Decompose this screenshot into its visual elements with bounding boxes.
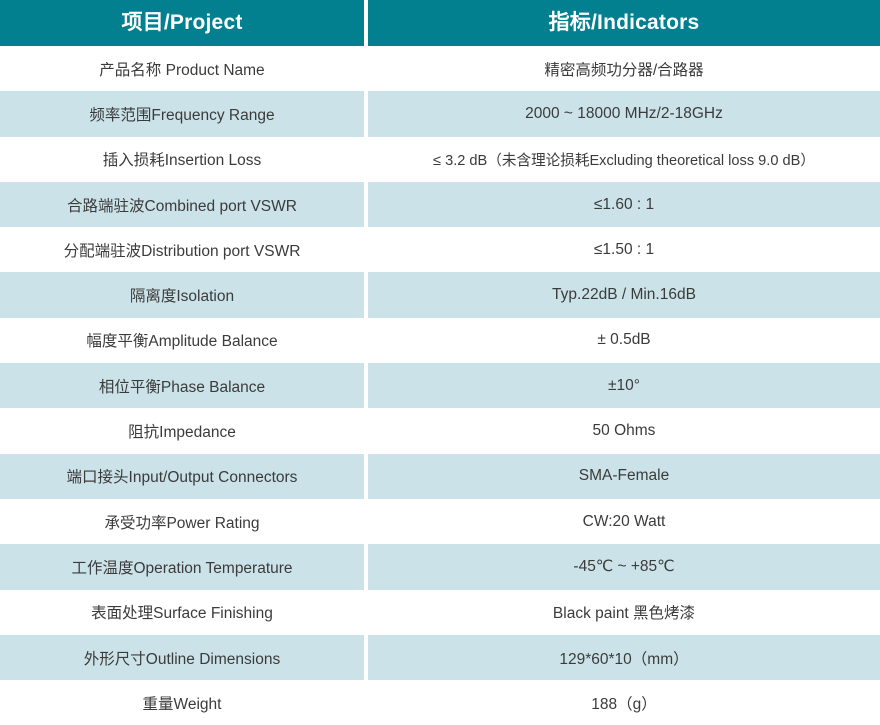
row-label: 插入损耗Insertion Loss <box>0 137 364 182</box>
row-label: 分配端驻波Distribution port VSWR <box>0 227 364 272</box>
table-header: 项目/Project 指标/Indicators <box>0 0 880 46</box>
row-label: 工作温度Operation Temperature <box>0 544 364 589</box>
row-label: 承受功率Power Rating <box>0 499 364 544</box>
table-row: 工作温度Operation Temperature-45℃ ~ +85℃ <box>0 544 880 589</box>
table-row: 分配端驻波Distribution port VSWR≤1.50 : 1 <box>0 227 880 272</box>
row-value: 2000 ~ 18000 MHz/2-18GHz <box>368 91 880 136</box>
row-value: 188（g） <box>368 680 880 725</box>
row-label: 相位平衡Phase Balance <box>0 363 364 408</box>
row-label: 端口接头Input/Output Connectors <box>0 454 364 499</box>
row-label: 合路端驻波Combined port VSWR <box>0 182 364 227</box>
table-row: 相位平衡Phase Balance±10° <box>0 363 880 408</box>
row-value: ≤ 3.2 dB（未含理论损耗Excluding theoretical los… <box>368 137 880 182</box>
row-label: 幅度平衡Amplitude Balance <box>0 318 364 363</box>
header-row: 项目/Project 指标/Indicators <box>0 0 880 46</box>
row-label: 外形尺寸Outline Dimensions <box>0 635 364 680</box>
row-label: 产品名称 Product Name <box>0 46 364 91</box>
header-indicators: 指标/Indicators <box>368 0 880 46</box>
row-value: Typ.22dB / Min.16dB <box>368 272 880 317</box>
row-value: ≤1.60 : 1 <box>368 182 880 227</box>
row-value: ±10° <box>368 363 880 408</box>
table-row: 频率范围Frequency Range2000 ~ 18000 MHz/2-18… <box>0 91 880 136</box>
header-project: 项目/Project <box>0 0 364 46</box>
table-row: 幅度平衡Amplitude Balance± 0.5dB <box>0 318 880 363</box>
row-label: 表面处理Surface Finishing <box>0 590 364 635</box>
row-label: 重量Weight <box>0 680 364 725</box>
table-row: 隔离度IsolationTyp.22dB / Min.16dB <box>0 272 880 317</box>
table-row: 合路端驻波Combined port VSWR≤1.60 : 1 <box>0 182 880 227</box>
specification-table: 项目/Project 指标/Indicators 产品名称 Product Na… <box>0 0 880 725</box>
row-value: 精密高频功分器/合路器 <box>368 46 880 91</box>
table-row: 产品名称 Product Name精密高频功分器/合路器 <box>0 46 880 91</box>
table-row: 重量Weight188（g） <box>0 680 880 725</box>
table-row: 外形尺寸Outline Dimensions129*60*10（mm） <box>0 635 880 680</box>
row-value: -45℃ ~ +85℃ <box>368 544 880 589</box>
row-label: 隔离度Isolation <box>0 272 364 317</box>
table-row: 插入损耗Insertion Loss≤ 3.2 dB（未含理论损耗Excludi… <box>0 137 880 182</box>
row-value: ≤1.50 : 1 <box>368 227 880 272</box>
table-row: 端口接头Input/Output ConnectorsSMA-Female <box>0 454 880 499</box>
table-body: 产品名称 Product Name精密高频功分器/合路器频率范围Frequenc… <box>0 46 880 725</box>
row-value: SMA-Female <box>368 454 880 499</box>
table-row: 阻抗Impedance50 Ohms <box>0 408 880 453</box>
table-row: 表面处理Surface FinishingBlack paint 黑色烤漆 <box>0 590 880 635</box>
row-value: Black paint 黑色烤漆 <box>368 590 880 635</box>
row-value: 50 Ohms <box>368 408 880 453</box>
row-value: 129*60*10（mm） <box>368 635 880 680</box>
row-value: ± 0.5dB <box>368 318 880 363</box>
table-row: 承受功率Power RatingCW:20 Watt <box>0 499 880 544</box>
row-label: 频率范围Frequency Range <box>0 91 364 136</box>
row-value: CW:20 Watt <box>368 499 880 544</box>
row-label: 阻抗Impedance <box>0 408 364 453</box>
